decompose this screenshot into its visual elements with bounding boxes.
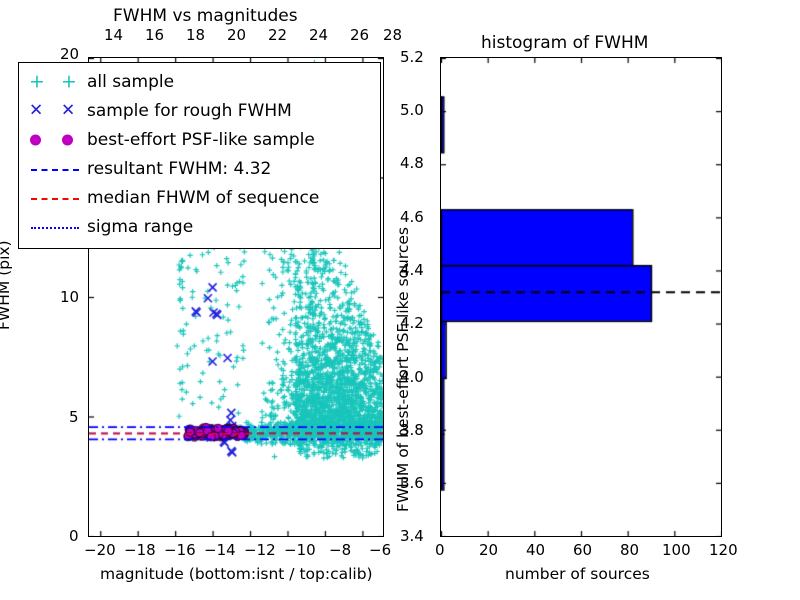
histogram-plot-area[interactable]	[440, 57, 722, 537]
x-tick-label: −8	[329, 541, 351, 559]
dashdot-line-icon	[25, 215, 87, 239]
x-tick-label: 20	[479, 541, 498, 559]
top-tick-label: 28	[383, 26, 402, 44]
y-tick-label: 4.8	[400, 154, 424, 172]
y-tick-label: 4.6	[400, 208, 424, 226]
circle-marker-icon	[25, 128, 87, 152]
top-tick-label: 20	[227, 26, 246, 44]
legend-label: sample for rough FWHM	[87, 99, 292, 123]
top-tick-label: 16	[145, 26, 164, 44]
legend-entry-rough-fwhm[interactable]: ✕ ✕ sample for rough FWHM	[19, 96, 380, 125]
legend-entry-psf-sample[interactable]: best-effort PSF-like sample	[19, 125, 380, 154]
figure-canvas: FWHM vs magnitudes 14 16 18 20 22 24 26 …	[0, 0, 800, 600]
legend-label: resultant FWHM: 4.32	[87, 157, 271, 181]
legend-entry-resultant-fwhm[interactable]: resultant FWHM: 4.32	[19, 154, 380, 183]
left-ylabel: FWHM (pix)	[0, 240, 13, 330]
x-tick-label: 100	[662, 541, 691, 559]
top-tick-label: 22	[268, 26, 287, 44]
legend-entry-sigma-range[interactable]: sigma range	[19, 212, 380, 241]
top-tick-label: 18	[186, 26, 205, 44]
x-tick-label: −10	[284, 541, 316, 559]
x-marker-icon: ✕ ✕	[25, 99, 87, 123]
y-tick-label: 5.2	[400, 48, 424, 66]
y-tick-label: 5	[69, 408, 79, 426]
legend-label: best-effort PSF-like sample	[87, 128, 315, 152]
legend-entry-all-sample[interactable]: + + all sample	[19, 67, 380, 96]
legend-label: median FHWM of sequence	[87, 186, 319, 210]
x-tick-label: −20	[84, 541, 116, 559]
right-plot-title: histogram of FWHM	[481, 33, 648, 53]
x-tick-label: 60	[573, 541, 592, 559]
x-tick-label: 0	[435, 541, 445, 559]
x-tick-label: −12	[244, 541, 276, 559]
x-tick-label: −16	[164, 541, 196, 559]
legend-label: sigma range	[87, 215, 193, 239]
y-tick-label: 0	[69, 527, 79, 545]
top-tick-label: 26	[350, 26, 369, 44]
x-tick-label: 40	[526, 541, 545, 559]
y-tick-label: 10	[60, 288, 79, 306]
dashed-line-icon	[25, 157, 87, 181]
x-tick-label: −18	[124, 541, 156, 559]
y-tick-label: 20	[60, 45, 79, 63]
left-xlabel: magnitude (bottom:isnt / top:calib)	[100, 565, 373, 583]
x-tick-label: −14	[204, 541, 236, 559]
right-xlabel: number of sources	[505, 565, 650, 583]
plus-marker-icon: + +	[25, 70, 87, 94]
top-tick-label: 14	[104, 26, 123, 44]
right-ylabel: FWHM of best-effort PSF-like sources	[394, 227, 412, 512]
y-tick-label: 3.4	[400, 527, 424, 545]
x-tick-label: −6	[369, 541, 391, 559]
x-tick-label: 80	[620, 541, 639, 559]
left-plot-title: FWHM vs magnitudes	[113, 6, 298, 26]
x-tick-label: 120	[709, 541, 738, 559]
legend-label: all sample	[87, 70, 174, 94]
legend-entry-median-fwhm[interactable]: median FHWM of sequence	[19, 183, 380, 212]
top-tick-label: 24	[309, 26, 328, 44]
legend[interactable]: + + all sample ✕ ✕ sample for rough FWHM…	[18, 62, 381, 249]
dashed-line-icon	[25, 186, 87, 210]
y-tick-label: 5.0	[400, 101, 424, 119]
histogram-canvas	[441, 58, 721, 536]
